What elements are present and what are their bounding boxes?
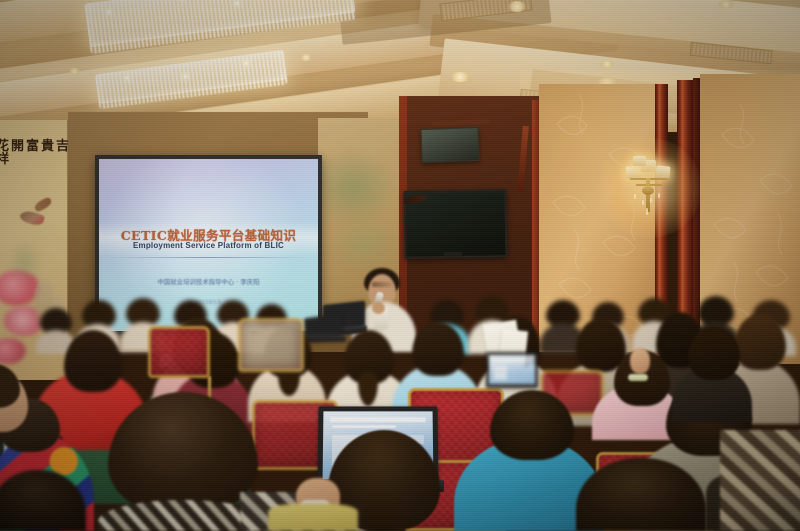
banquet-chair[interactable] xyxy=(238,318,304,372)
painted-bird xyxy=(19,209,46,228)
tv-bracket xyxy=(444,252,462,257)
recessed-downlight xyxy=(450,72,470,82)
audience-member xyxy=(672,326,752,422)
recessed-downlight xyxy=(68,68,81,75)
recessed-downlight xyxy=(300,54,312,61)
shirt-yellow xyxy=(268,504,358,531)
slide-subtitle: Employment Service Platform of BLIC xyxy=(99,241,318,250)
audience-member-plaid xyxy=(720,430,800,531)
banquet-chair[interactable] xyxy=(148,326,210,378)
recessed-downlight xyxy=(508,1,526,12)
presenter-hand xyxy=(372,302,385,314)
raised-hand xyxy=(630,348,650,374)
calligraphy-text: 花開富貴吉祥 xyxy=(0,140,72,166)
slide-organization: 中国就业培训技术指导中心 · 李庆阳 xyxy=(99,277,318,286)
conference-photo: 花開富貴吉祥 xyxy=(0,0,800,531)
wall-sconce[interactable] xyxy=(620,156,676,228)
recessed-downlight xyxy=(600,60,614,68)
audience-member xyxy=(0,372,44,458)
recessed-downlight xyxy=(718,0,734,9)
painted-bird xyxy=(33,196,53,212)
ceiling-speaker xyxy=(420,127,479,163)
